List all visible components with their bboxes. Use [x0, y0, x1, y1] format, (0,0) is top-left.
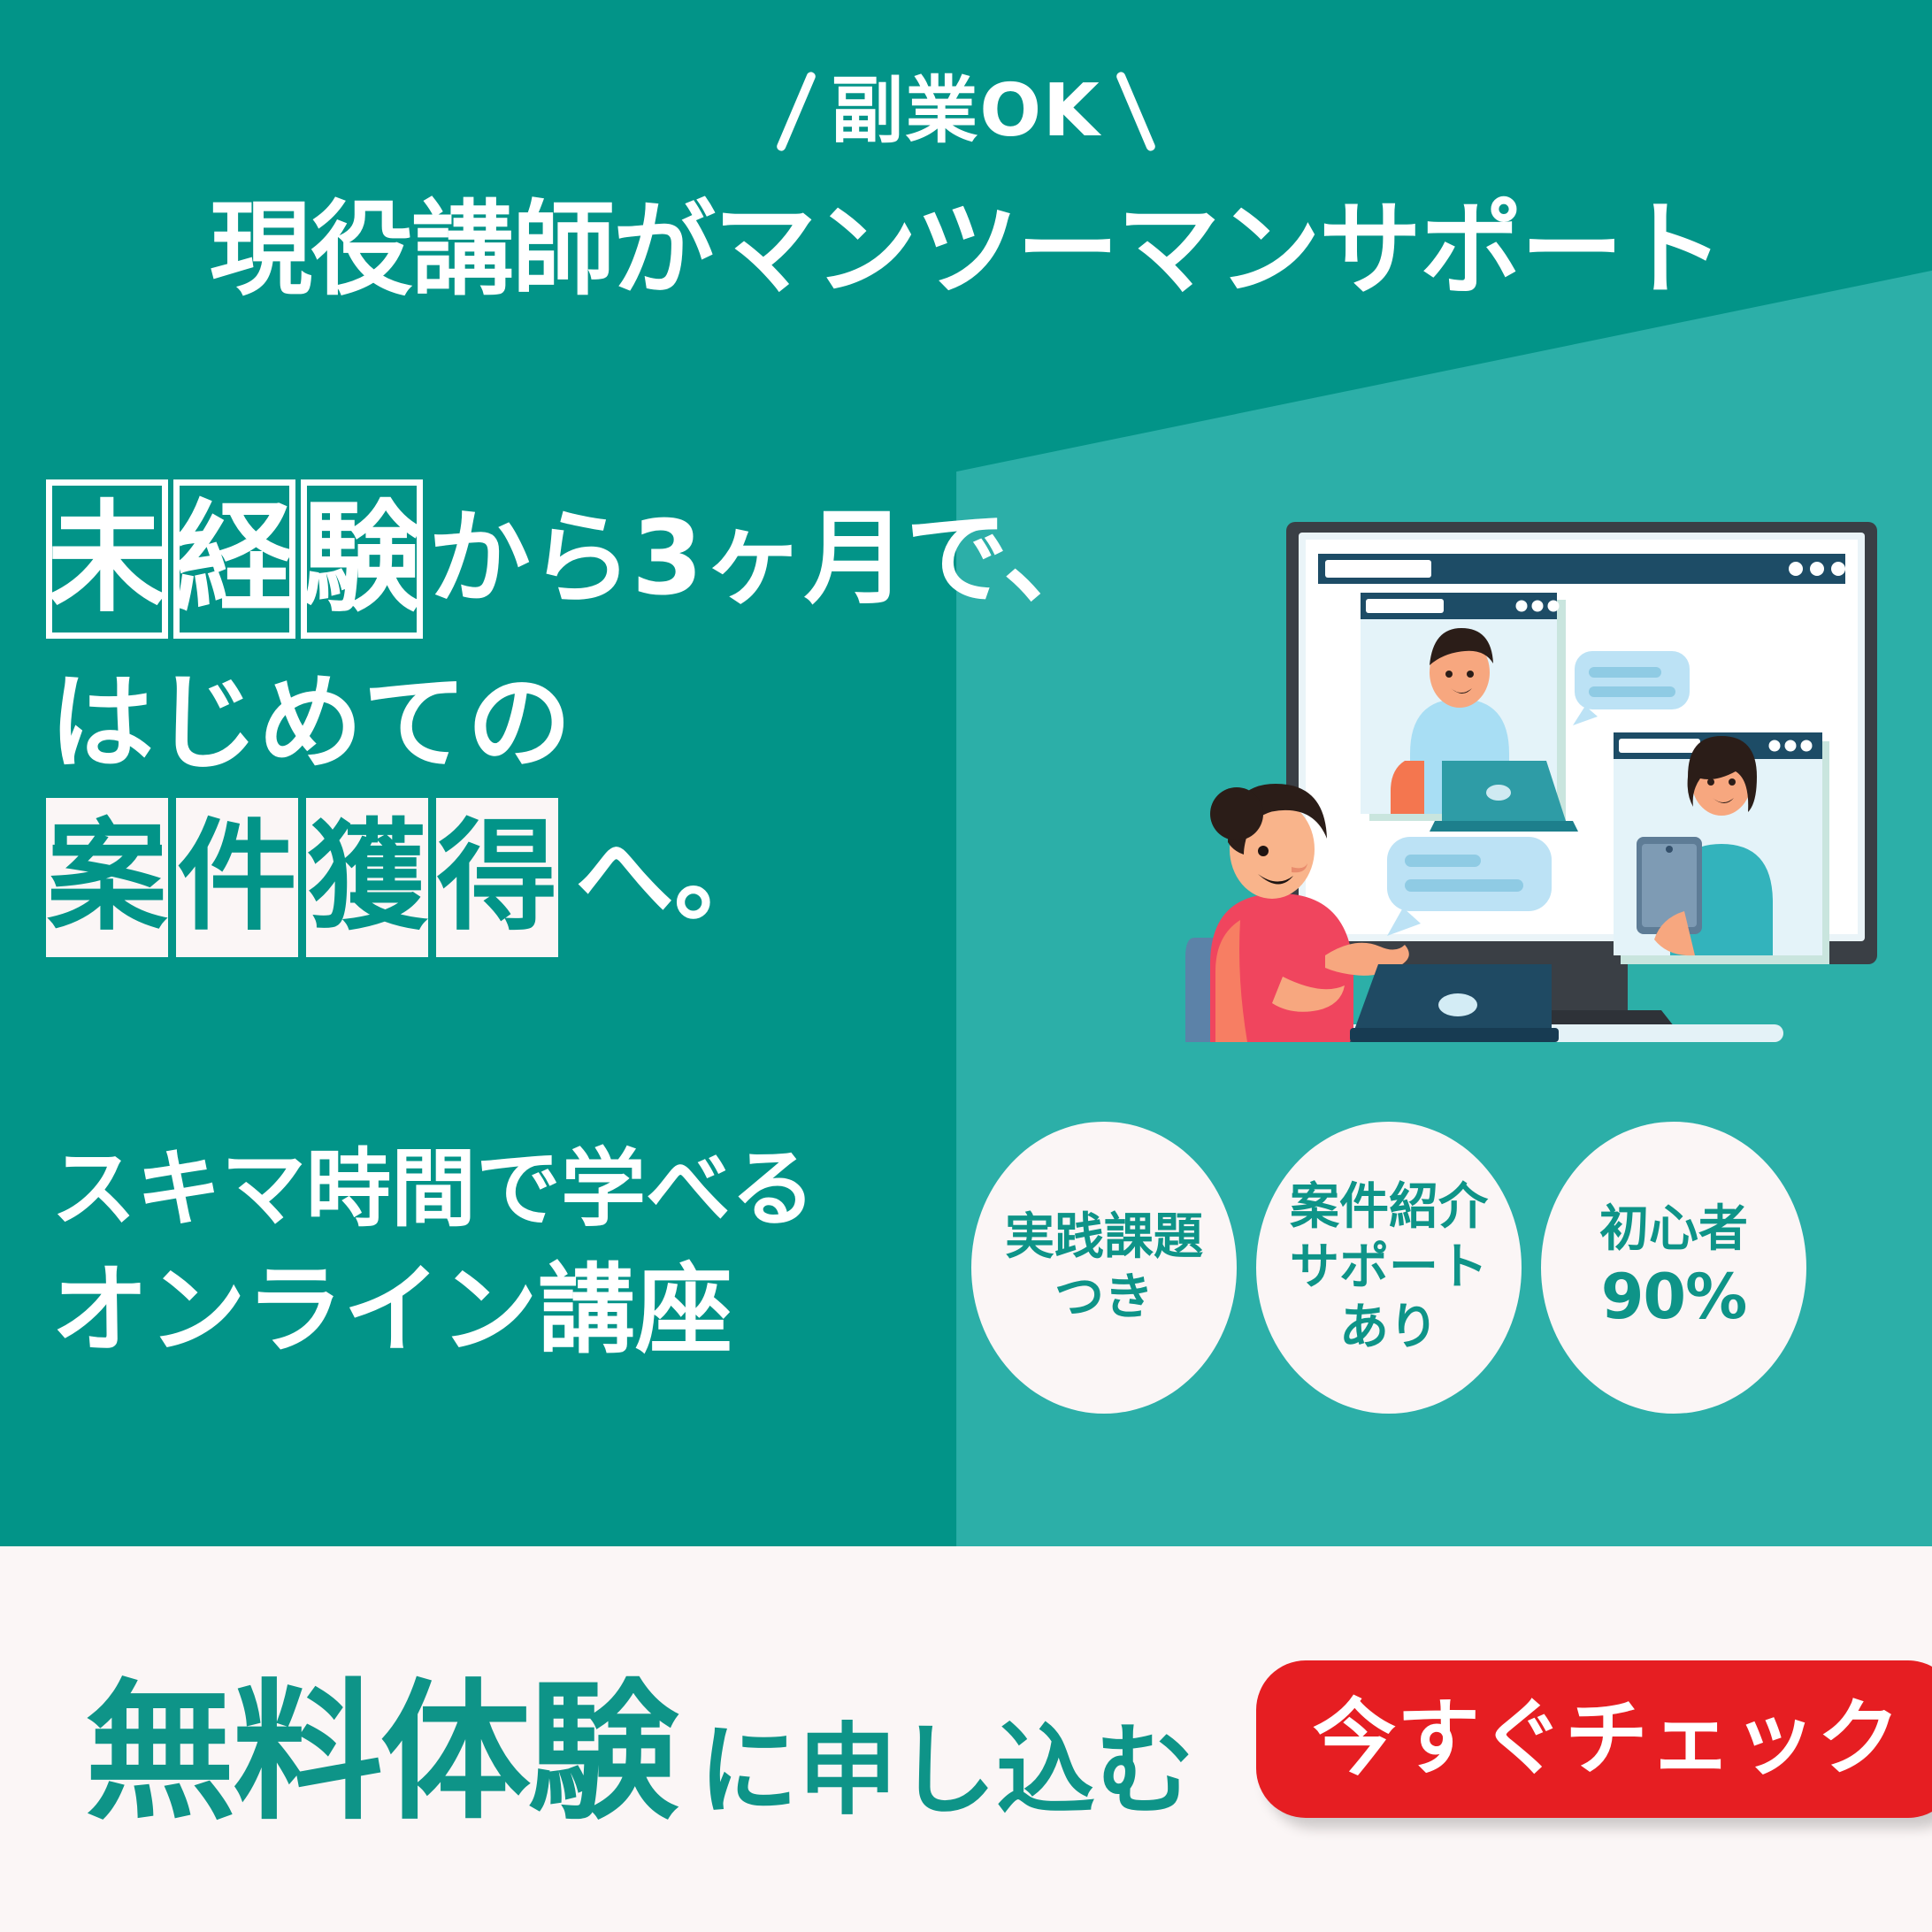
boxed-char: 得 [436, 798, 558, 957]
badge-job-referral-support: 案件紹介 サポート あり [1256, 1122, 1522, 1414]
cta-text: 無料体験 に申し込む [85, 1630, 1194, 1848]
badge-line: サポート [1290, 1238, 1488, 1298]
main-headline: 未 経 験 から3ヶ月で、 はじめての 案 件 獲 得 へ。 [46, 479, 1105, 973]
boxed-char: 獲 [306, 798, 428, 957]
cta-text-rest: に申し込む [699, 1690, 1194, 1834]
slash-left-icon [776, 71, 817, 152]
badge-practical-assignments: 実践課題 つき [971, 1122, 1237, 1414]
headline-line-2: 案 件 獲 得 へ。 [46, 798, 1105, 957]
ad-banner: 副業OK 現役講師がマンツーマンサポート 未 経 験 から3ヶ月で、 はじめての… [0, 0, 1932, 1932]
slash-right-icon [1115, 71, 1156, 152]
eyebrow-label: 副業OK [831, 75, 1100, 148]
eyebrow-badge: 副業OK [0, 69, 1932, 154]
headline-line-1: 未 経 験 から3ヶ月で、 [46, 479, 1105, 639]
headline-after-first: から3ヶ月で、 [428, 508, 1105, 610]
badge-beginner-percentage: 初心者 90% [1541, 1122, 1806, 1414]
badge-line: 90% [1601, 1260, 1747, 1335]
headline-after-second: へ。 [575, 828, 773, 927]
sub-copy-line-1: スキマ時間で学べる [51, 1139, 816, 1239]
header-block: 副業OK 現役講師がマンツーマンサポート [0, 69, 1932, 304]
badge-line: 実践課題 [1005, 1207, 1203, 1268]
boxed-char: 件 [176, 798, 298, 957]
cta-row: 無料体験 に申し込む 今すぐチェック [0, 1546, 1932, 1932]
feature-badges: 実践課題 つき 案件紹介 サポート あり 初心者 90% [971, 1122, 1806, 1414]
boxed-char: 未 [46, 479, 168, 639]
badge-line: あり [1339, 1298, 1438, 1358]
sub-copy: スキマ時間で学べる オンライン講座 [51, 1139, 816, 1368]
check-now-button[interactable]: 今すぐチェック [1256, 1660, 1932, 1818]
boxed-char: 案 [46, 798, 168, 957]
badge-line: 初心者 [1599, 1200, 1748, 1260]
sub-copy-line-2: オンライン講座 [51, 1253, 816, 1368]
cta-text-emphasis: 無料体験 [85, 1630, 676, 1848]
header-subtitle: 現役講師がマンツーマンサポート [0, 196, 1932, 304]
headline-line-middle: はじめての [50, 671, 1105, 775]
online-lesson-illustration [1177, 495, 1902, 1044]
boxed-char: 験 [301, 479, 423, 639]
badge-line: 案件紹介 [1290, 1177, 1488, 1238]
badge-line: つき [1054, 1268, 1154, 1328]
boxed-word-mikeiken: 未 経 験 [46, 479, 428, 639]
boxed-word-ankenkakutoku: 案 件 獲 得 [46, 798, 566, 957]
boxed-char: 経 [173, 479, 295, 639]
